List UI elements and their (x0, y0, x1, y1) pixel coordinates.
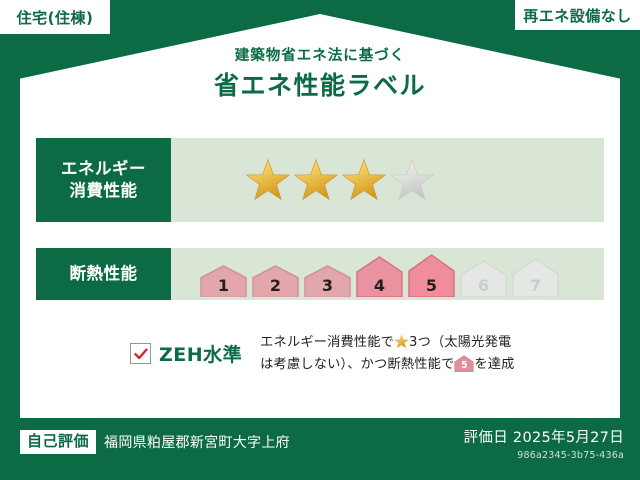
grade-house-icon-inline: 5 (454, 355, 474, 372)
grade-house-1-number: 1 (199, 278, 248, 294)
zeh-desc-text-2a: は考慮しない）、かつ断熱性能で (260, 357, 454, 372)
star-icon-filled-3 (341, 157, 387, 203)
grade-house-2: 2 (251, 264, 300, 297)
grade-house-7-number: 7 (511, 278, 560, 294)
zeh-desc-text-2b: を達成 (474, 357, 514, 372)
self-evaluation-badge: 自己評価 (20, 430, 96, 454)
title-subtitle: 建築物省エネ法に基づく (0, 48, 640, 65)
evaluation-date: 評価日 2025年5月27日 (464, 426, 624, 447)
grade-house-3-number: 3 (303, 278, 352, 294)
title-block: 建築物省エネ法に基づく 省エネ性能ラベル (0, 48, 640, 101)
grade-house-6: 6 (459, 259, 508, 297)
star-rating (245, 157, 435, 203)
zeh-description-line1: エネルギー消費性能で3つ（太陽光発電 (260, 332, 514, 354)
grade-house-7: 7 (511, 257, 560, 297)
row-energy-label-line1: エネルギー (61, 158, 146, 180)
row-energy-performance: エネルギー 消費性能 (36, 138, 604, 222)
star-icon-filled-2 (293, 157, 339, 203)
grade-house-icon-inline-number: 5 (454, 361, 474, 371)
footer: 自己評価 福岡県粕屋郡新宮町大字上府 評価日 2025年5月27日 986a23… (0, 420, 640, 480)
grade-house-5-number: 5 (407, 278, 456, 294)
check-icon (133, 346, 149, 362)
row-energy-label-line2: 消費性能 (70, 180, 138, 202)
row-insulation-label: 断熱性能 (36, 248, 171, 300)
row-insulation-performance: 断熱性能 1 2 (36, 248, 604, 300)
energy-performance-label: 住宅(住棟) 再エネ設備なし 建築物省エネ法に基づく 省エネ性能ラベル エネルギ… (0, 0, 640, 480)
page-title: 省エネ性能ラベル (0, 71, 640, 101)
insulation-grade-scale: 1 2 3 4 (199, 248, 560, 300)
row-insulation-label-line1: 断熱性能 (70, 263, 138, 285)
zeh-section: ZEH水準 エネルギー消費性能で3つ（太陽光発電 は考慮しない）、かつ断熱性能で… (36, 332, 604, 376)
zeh-checkbox[interactable] (130, 343, 151, 364)
zeh-label: ZEH水準 (159, 340, 242, 367)
row-energy-body (171, 138, 604, 222)
grade-house-3: 3 (303, 264, 352, 297)
grade-house-5: 5 (407, 253, 456, 297)
badge-renewable-equipment: 再エネ設備なし (515, 0, 640, 30)
evaluation-id: 986a2345-3b75-436a (464, 450, 624, 461)
grade-house-4: 4 (355, 255, 404, 297)
grade-house-4-number: 4 (355, 278, 404, 294)
zeh-desc-text-1b: 3つ（太陽光発電 (409, 335, 511, 350)
grade-house-1: 1 (199, 264, 248, 297)
grade-house-6-number: 6 (459, 278, 508, 294)
zeh-mark: ZEH水準 (130, 340, 242, 367)
star-icon-filled-1 (245, 157, 291, 203)
zeh-description: エネルギー消費性能で3つ（太陽光発電 は考慮しない）、かつ断熱性能で5を達成 (260, 332, 514, 376)
row-insulation-body: 1 2 3 4 (171, 248, 604, 300)
row-energy-label: エネルギー 消費性能 (36, 138, 171, 222)
zeh-desc-text-1a: エネルギー消費性能で (260, 335, 394, 350)
star-icon-empty-4 (389, 157, 435, 203)
address-text: 福岡県粕屋郡新宮町大字上府 (104, 432, 290, 452)
star-icon-inline (394, 334, 409, 349)
grade-house-2-number: 2 (251, 278, 300, 294)
zeh-description-line2: は考慮しない）、かつ断熱性能で5を達成 (260, 354, 514, 376)
footer-right: 評価日 2025年5月27日 986a2345-3b75-436a (464, 426, 624, 461)
footer-left: 自己評価 福岡県粕屋郡新宮町大字上府 (20, 430, 290, 454)
badge-building-type: 住宅(住棟) (0, 0, 110, 34)
